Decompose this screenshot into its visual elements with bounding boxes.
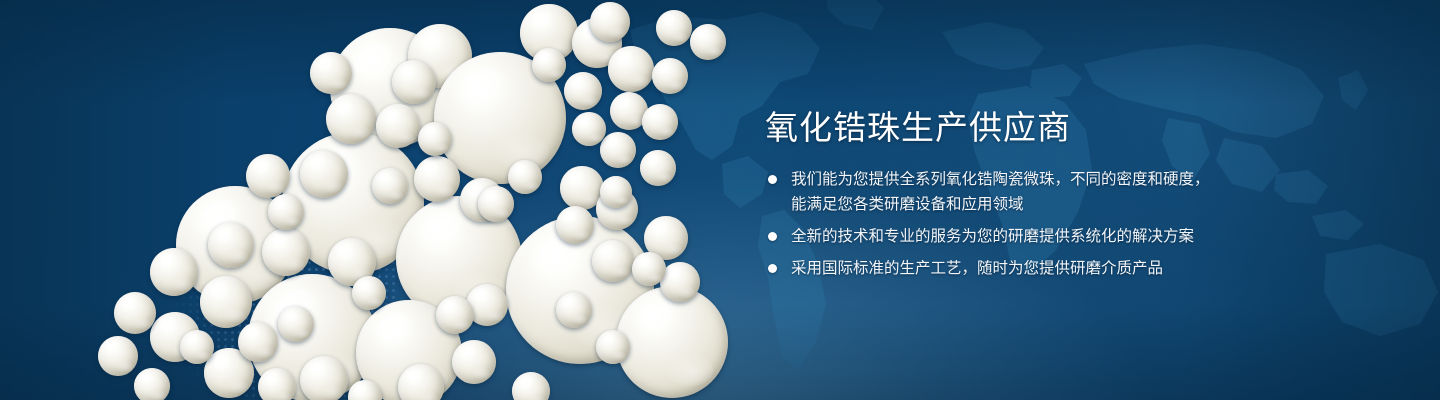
list-item: 采用国际标准的生产工艺，随时为您提供研磨介质产品 — [765, 256, 1385, 281]
list-item: 我们能为您提供全系列氧化锆陶瓷微珠，不同的密度和硬度， 能满足您各类研磨设备和应… — [765, 167, 1385, 217]
list-item-label: 我们能为您提供全系列氧化锆陶瓷微珠，不同的密度和硬度， 能满足您各类研磨设备和应… — [791, 167, 1385, 217]
list-item-label: 全新的技术和专业的服务为您的研磨提供系统化的解决方案 — [791, 224, 1385, 249]
list-item-label: 采用国际标准的生产工艺，随时为您提供研磨介质产品 — [791, 256, 1385, 281]
bullet-dot-icon — [768, 232, 777, 241]
bullet-dot-icon — [768, 175, 777, 184]
banner-text-block: 氧化锆珠生产供应商 我们能为您提供全系列氧化锆陶瓷微珠，不同的密度和硬度， 能满… — [765, 106, 1385, 281]
list-item: 全新的技术和专业的服务为您的研磨提供系统化的解决方案 — [765, 224, 1385, 249]
hero-banner: 氧化锆珠生产供应商 我们能为您提供全系列氧化锆陶瓷微珠，不同的密度和硬度， 能满… — [0, 0, 1440, 400]
banner-feature-list: 我们能为您提供全系列氧化锆陶瓷微珠，不同的密度和硬度， 能满足您各类研磨设备和应… — [765, 167, 1385, 281]
bullet-dot-icon — [768, 264, 777, 273]
banner-headline: 氧化锆珠生产供应商 — [765, 106, 1385, 150]
